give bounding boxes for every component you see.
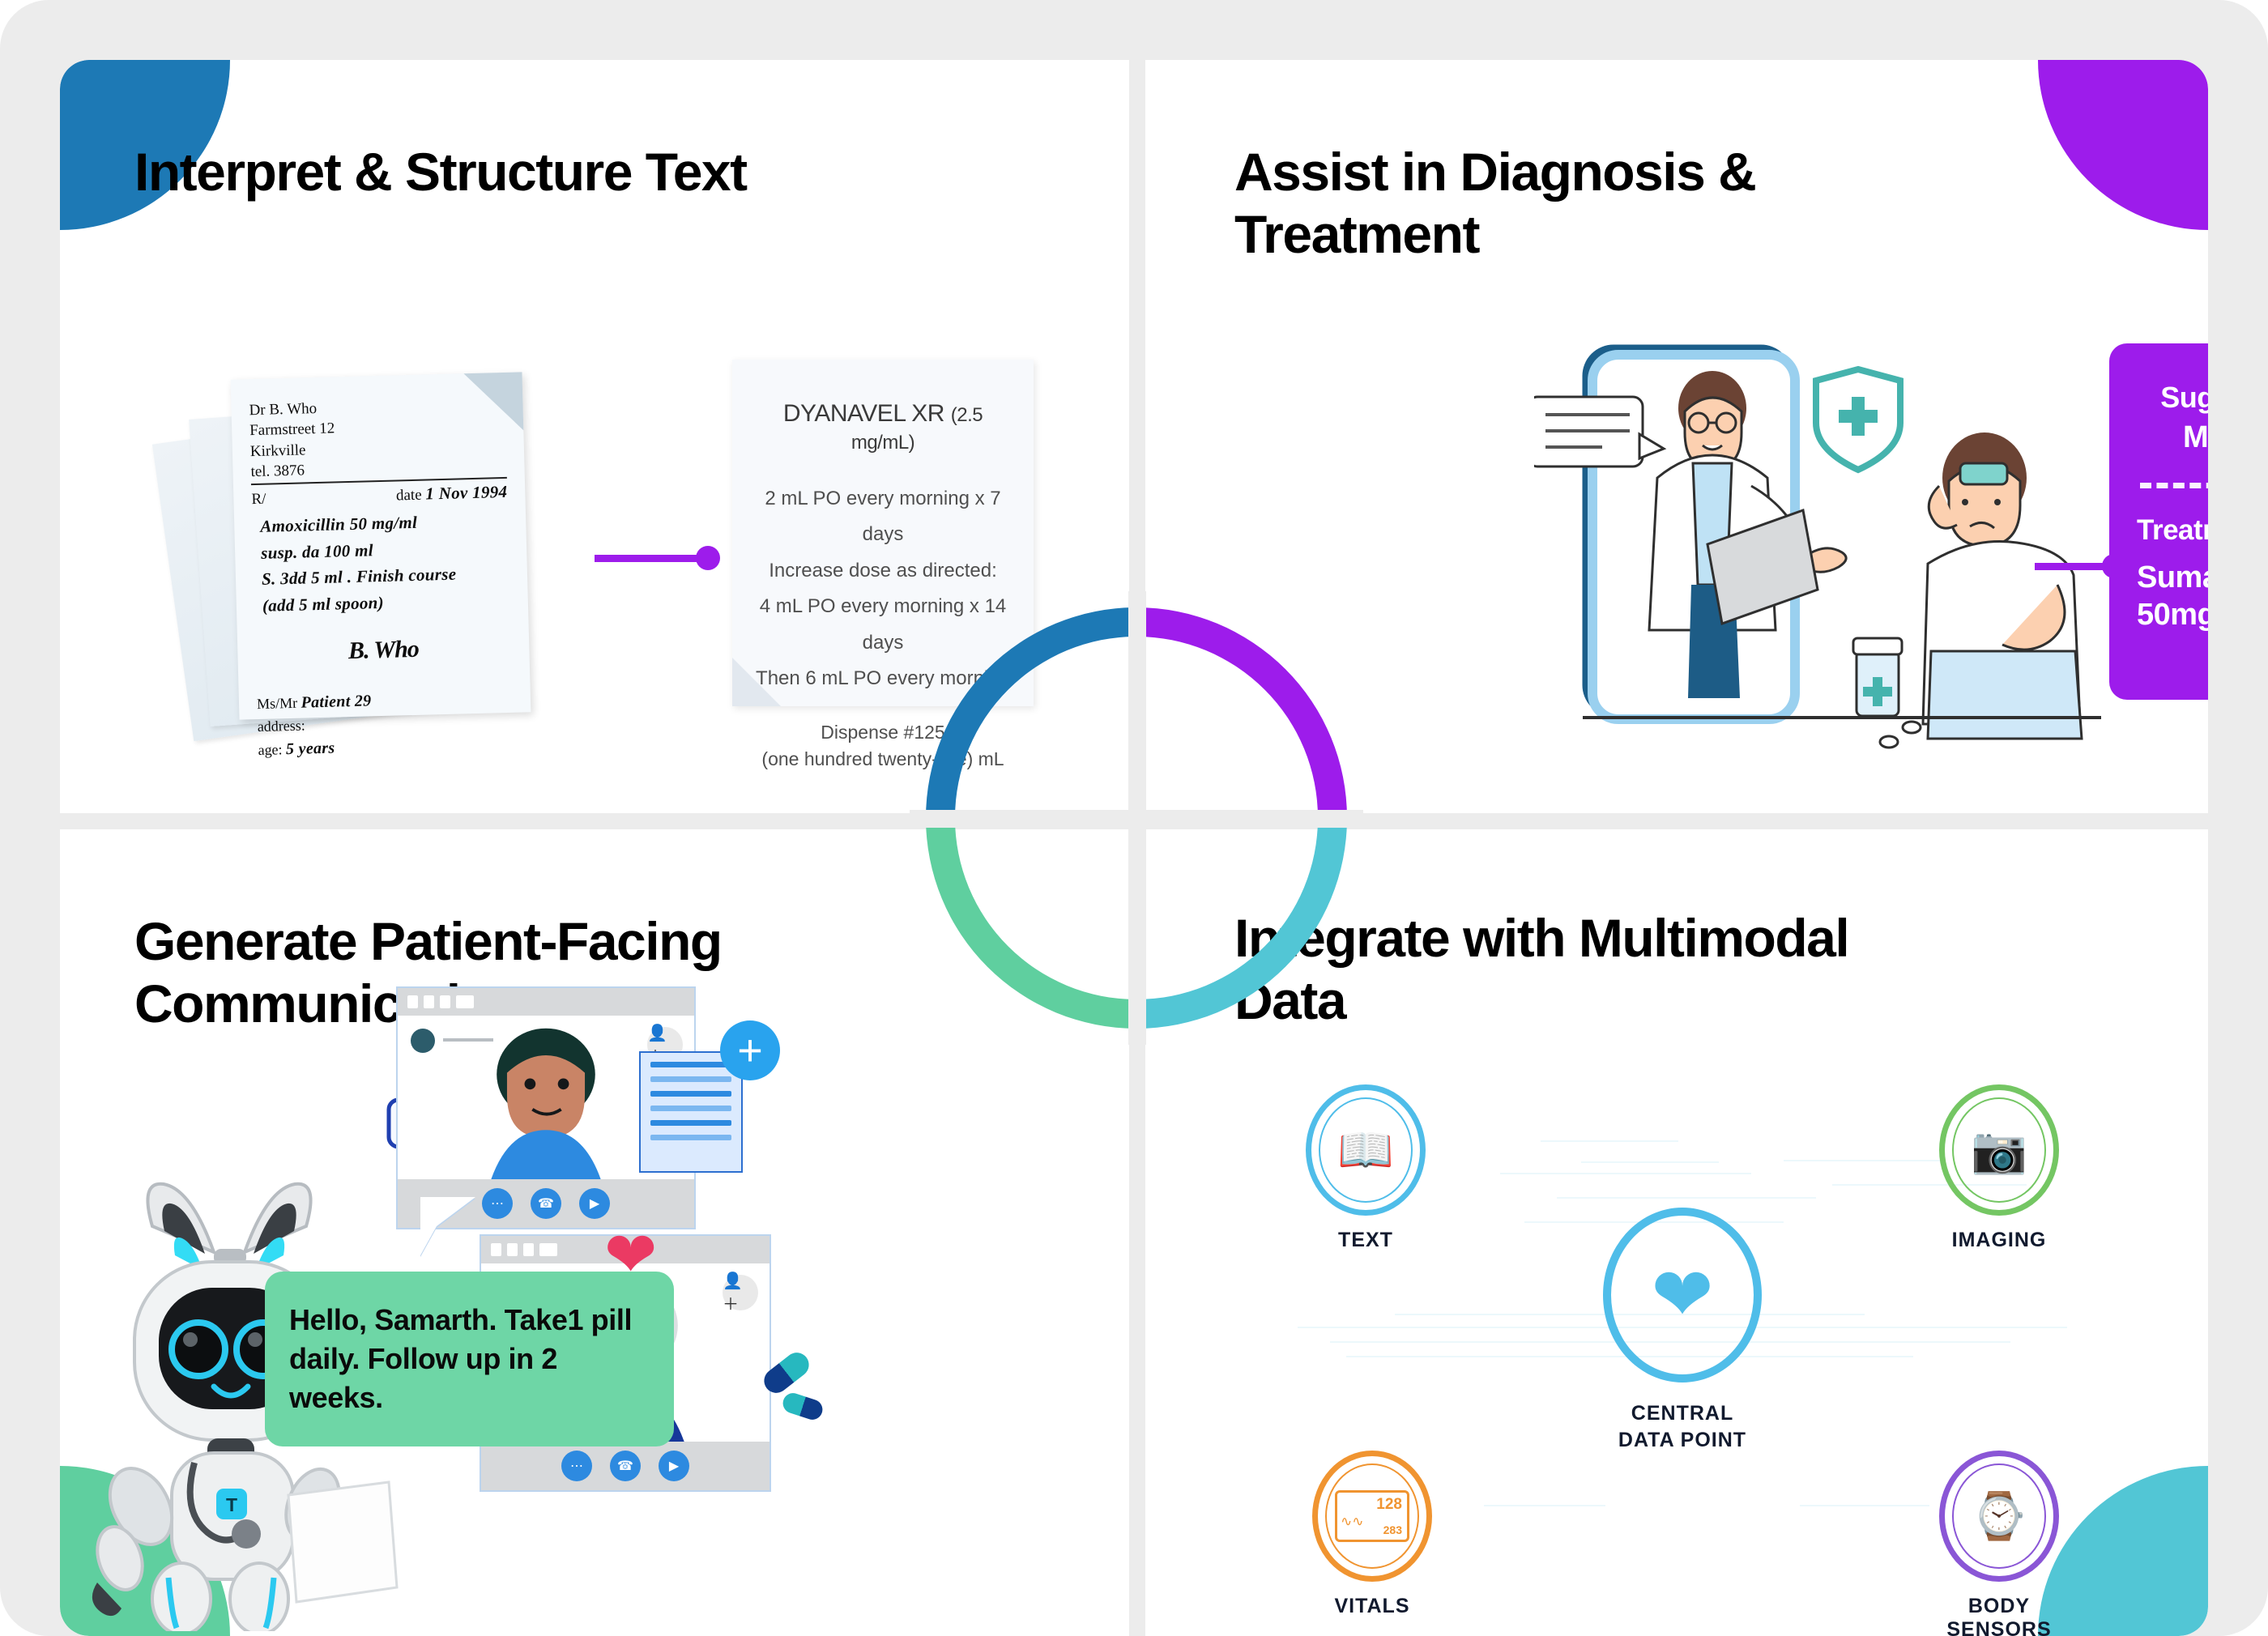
vitals-monitor-icon: ∿∿ 128 283: [1335, 1490, 1409, 1542]
structured-dispense-line-1: Dispense #125: [750, 719, 1016, 745]
call-controls-elderly[interactable]: ⋯ ☎ ▶: [481, 1442, 769, 1490]
more-options-icon[interactable]: ⋯: [561, 1451, 592, 1481]
rx-date-value: 1 Nov 1994: [425, 482, 508, 504]
node-center-label: CENTRAL DATA POINT: [1597, 1400, 1767, 1453]
card-title-multimodal: Integrate with Multimodal Data: [1234, 907, 1963, 1031]
diagnosis-suggestion-box[interactable]: Suggested DX: MIGRAINE Treatment Plan: S…: [2109, 343, 2208, 700]
node-central-data-point[interactable]: ❤ CENTRAL DATA POINT: [1597, 1208, 1767, 1344]
node-body-sensors-label: BODY SENSORS: [1931, 1595, 2067, 1636]
telemedicine-scene-icon: [1534, 327, 2150, 756]
participant-avatar: [411, 1029, 435, 1053]
speech-tail-icon: [420, 1197, 475, 1255]
node-vitals-label: VITALS: [1304, 1595, 1440, 1618]
infographic-canvas: Interpret & Structure Text Dr B. Who Far…: [0, 0, 2268, 1636]
capsule-pills-icon: [761, 1361, 823, 1428]
rx-age-label: age:: [258, 742, 282, 759]
camera-icon[interactable]: ▶: [659, 1451, 689, 1481]
more-options-icon[interactable]: ⋯: [482, 1188, 513, 1219]
treatment-plan-value: Sumatriptan 50mg: [2137, 560, 2208, 633]
video-call-window-adult[interactable]: 👤＋ ⋯ ☎ ▶ +: [396, 986, 696, 1229]
structured-prescription-output: DYANAVEL XR (2.5 mg/mL) 2 mL PO every mo…: [732, 360, 1034, 706]
node-imaging-ring: 📷: [1939, 1084, 2059, 1216]
card-generate-patient-communication[interactable]: Generate Patient-Facing Communication: [60, 829, 1129, 1636]
handwritten-prescription-stack: Dr B. Who Farmstreet 12 Kirkville tel. 3…: [172, 376, 593, 765]
node-text[interactable]: 📖 TEXT: [1298, 1084, 1434, 1221]
vitals-primary-value: 128: [1376, 1496, 1402, 1514]
node-vitals[interactable]: ∿∿ 128 283 VITALS: [1304, 1451, 1440, 1587]
page-fold-bottom-icon: [732, 658, 781, 706]
hangup-icon[interactable]: ☎: [531, 1188, 561, 1219]
node-text-label: TEXT: [1298, 1229, 1434, 1252]
node-imaging-label: IMAGING: [1931, 1229, 2067, 1252]
rx-patient-label: Ms/Mr: [257, 695, 298, 712]
node-imaging[interactable]: 📷 IMAGING: [1931, 1084, 2067, 1221]
structured-dose-line-4: Then 6 mL PO every morning: [750, 661, 1016, 697]
connector-dot-icon: [2102, 554, 2126, 578]
camera-icon[interactable]: ▶: [579, 1188, 610, 1219]
dx-divider: [2140, 483, 2208, 488]
connector-dot-icon: [696, 546, 720, 570]
smartwatch-chip-icon: ⌚: [1971, 1493, 2027, 1539]
patient-message-bubble: Hello, Samarth. Take1 pill daily. Follow…: [265, 1272, 674, 1446]
rx-patient-value: Patient 29: [301, 692, 371, 712]
book-search-icon: 📖: [1337, 1127, 1394, 1173]
card-title-interpret: Interpret & Structure Text: [134, 141, 747, 203]
suggested-dx-value: MIGRAINE: [2137, 420, 2208, 455]
telemedicine-illustration: [1534, 327, 2150, 756]
node-center-ring: ❤: [1603, 1208, 1762, 1383]
page-fold-icon: [463, 372, 523, 432]
hangup-icon[interactable]: ☎: [610, 1451, 641, 1481]
heart-pulse-icon: ❤: [1651, 1258, 1713, 1332]
participant-name-placeholder: [443, 1038, 493, 1042]
multimodal-data-diagram: 📖 TEXT 📷 IMAGING ∿∿ 128 283: [1298, 1084, 2067, 1587]
card-assist-diagnosis-treatment[interactable]: Assist in Diagnosis & Treatment: [1145, 60, 2208, 813]
connector-arrow-card2: [2035, 554, 2126, 578]
card-title-diagnosis: Assist in Diagnosis & Treatment: [1234, 141, 1963, 265]
feature-card-grid: Interpret & Structure Text Dr B. Who Far…: [60, 60, 2208, 1636]
corner-wedge-purple-icon: [2038, 60, 2208, 230]
suggested-dx-label: Suggested DX:: [2137, 379, 2208, 415]
structured-dose-line-3: 4 mL PO every morning x 14 days: [750, 589, 1016, 661]
structured-dose-line-2: Increase dose as directed:: [750, 553, 1016, 589]
rx-sig-line-2: (add 5 ml spoon): [262, 586, 510, 620]
svg-text:T: T: [226, 1494, 237, 1515]
card-integrate-multimodal-data[interactable]: Integrate with Multimodal Data: [1145, 829, 2208, 1636]
vitals-secondary-value: 283: [1383, 1523, 1402, 1536]
window-titlebar: [398, 988, 694, 1016]
structured-drug-name: DYANAVEL XR: [783, 400, 944, 427]
camera-play-icon: 📷: [1971, 1127, 2027, 1173]
medical-plus-badge-icon: +: [720, 1020, 780, 1080]
node-text-ring: 📖: [1306, 1084, 1426, 1216]
handwritten-prescription-sheet: Dr B. Who Farmstreet 12 Kirkville tel. 3…: [231, 372, 531, 719]
structured-dispense-line-2: (one hundred twenty-five) mL: [750, 746, 1016, 772]
connector-arrow-card1: [595, 546, 720, 570]
node-vitals-ring: ∿∿ 128 283: [1312, 1451, 1432, 1582]
card-interpret-structure-text[interactable]: Interpret & Structure Text Dr B. Who Far…: [60, 60, 1129, 813]
node-body-sensors[interactable]: ⌚ BODY SENSORS: [1931, 1451, 2067, 1587]
node-body-sensors-ring: ⌚: [1939, 1451, 2059, 1582]
rx-date-label: date: [396, 487, 422, 505]
rx-age-value: 5 years: [286, 739, 335, 759]
rx-symbol: R/: [251, 491, 266, 509]
structured-dose-line-1: 2 mL PO every morning x 7 days: [750, 481, 1016, 553]
rx-signature: B. Who: [255, 633, 512, 667]
add-participant-icon[interactable]: 👤＋: [723, 1275, 758, 1310]
treatment-plan-label: Treatment Plan:: [2137, 514, 2208, 547]
